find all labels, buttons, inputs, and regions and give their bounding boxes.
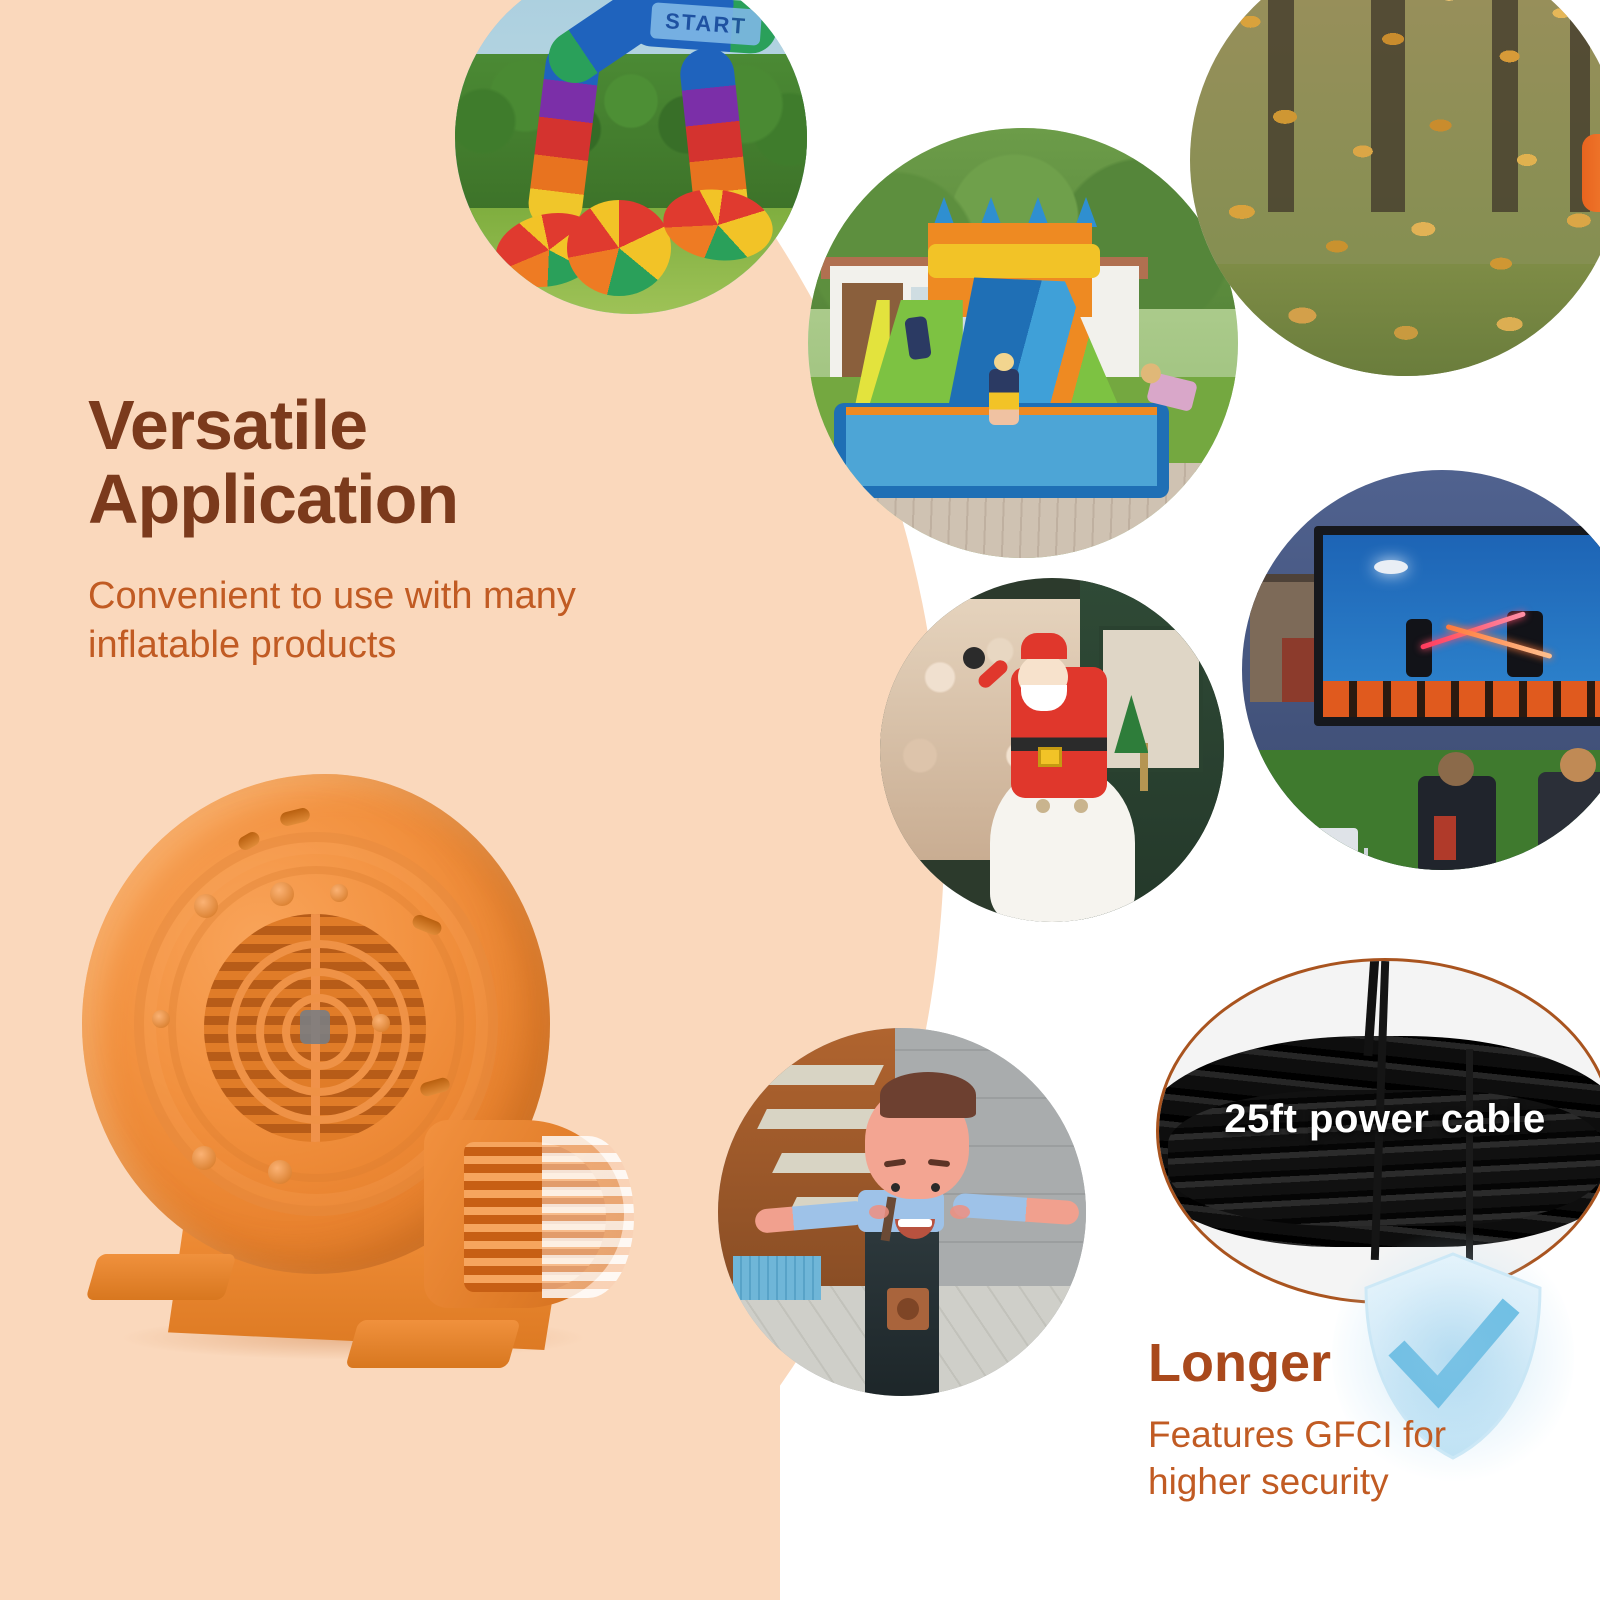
santa-mitten (963, 647, 985, 669)
projector (1298, 828, 1358, 854)
castle-crossbar (928, 244, 1100, 278)
inflatable-blower (72, 768, 712, 1440)
subtitle-line-2: inflatable products (88, 621, 728, 670)
inflatable-ball (567, 200, 671, 296)
marketing-banner: Versatile Application Convenient to use … (0, 0, 1600, 1600)
bounce-house-photo (808, 128, 1238, 558)
arch-start-sign: START (650, 2, 762, 46)
blown-leaves (1190, 0, 1600, 376)
child-standing (989, 369, 1019, 425)
tree-line (455, 54, 807, 223)
gfci-line-2: higher security (1148, 1459, 1568, 1506)
inflatable-arch-photo: START (455, 0, 807, 314)
housing-screw (152, 1010, 170, 1028)
blower-foot (345, 1320, 521, 1368)
housing-screw (372, 1014, 390, 1032)
housing-screw (270, 882, 294, 906)
page-subtitle: Convenient to use with many inflatable p… (88, 572, 728, 669)
scene-floor (1323, 681, 1600, 717)
awning (743, 1065, 885, 1085)
silhouette-figure (1406, 619, 1432, 677)
camping-chair (1418, 776, 1496, 870)
gfci-feature-block: Longer Features GFCI for higher security (1148, 1336, 1568, 1505)
dancer-cheek (869, 1205, 889, 1219)
gfci-heading: Longer (1148, 1336, 1568, 1390)
inflatable-screen-frame (1314, 526, 1600, 726)
blower-foot (85, 1254, 236, 1300)
blower-nozzle (1582, 134, 1600, 212)
intake-grille (204, 914, 426, 1142)
motor-hub (300, 1010, 330, 1044)
housing-screw (330, 884, 348, 902)
heading-line-2: Application (88, 462, 728, 536)
vent-slot (279, 807, 311, 828)
dancer-eye (891, 1183, 900, 1192)
dancer-hair (880, 1072, 976, 1118)
dancer-pocket-patch (887, 1288, 929, 1330)
subtitle-line-1: Convenient to use with many (88, 572, 728, 621)
dancer-teeth (898, 1219, 932, 1227)
cable-length-label: 25ft power cable (1159, 1097, 1600, 1142)
housing-screw (268, 1160, 292, 1184)
chair-cushion (1434, 816, 1456, 860)
outdoor-movie-photo (1242, 470, 1600, 870)
dancer-cheek (950, 1205, 970, 1219)
housing-screw (192, 1146, 216, 1170)
leaf-blowing-photo (1190, 0, 1600, 376)
air-dancer-photo (718, 1028, 1086, 1396)
inflatable-santa-photo (880, 578, 1224, 922)
heading-line-1: Versatile (88, 388, 728, 462)
dancer-eye (931, 1183, 940, 1192)
headline-block: Versatile Application Convenient to use … (88, 388, 728, 670)
door-panel (1099, 626, 1203, 772)
housing-screw (194, 894, 218, 918)
santa-hat (1021, 633, 1067, 659)
camping-chair (1538, 772, 1600, 870)
outlet-louvers-lit (542, 1136, 634, 1298)
santa-belt-buckle (1038, 747, 1062, 767)
blue-shutter (733, 1256, 821, 1300)
scene-lamp (1374, 560, 1408, 574)
page-title: Versatile Application (88, 388, 728, 536)
projection-screen (1323, 535, 1600, 717)
gfci-description: Features GFCI for higher security (1148, 1412, 1568, 1505)
gfci-line-1: Features GFCI for (1148, 1412, 1568, 1459)
